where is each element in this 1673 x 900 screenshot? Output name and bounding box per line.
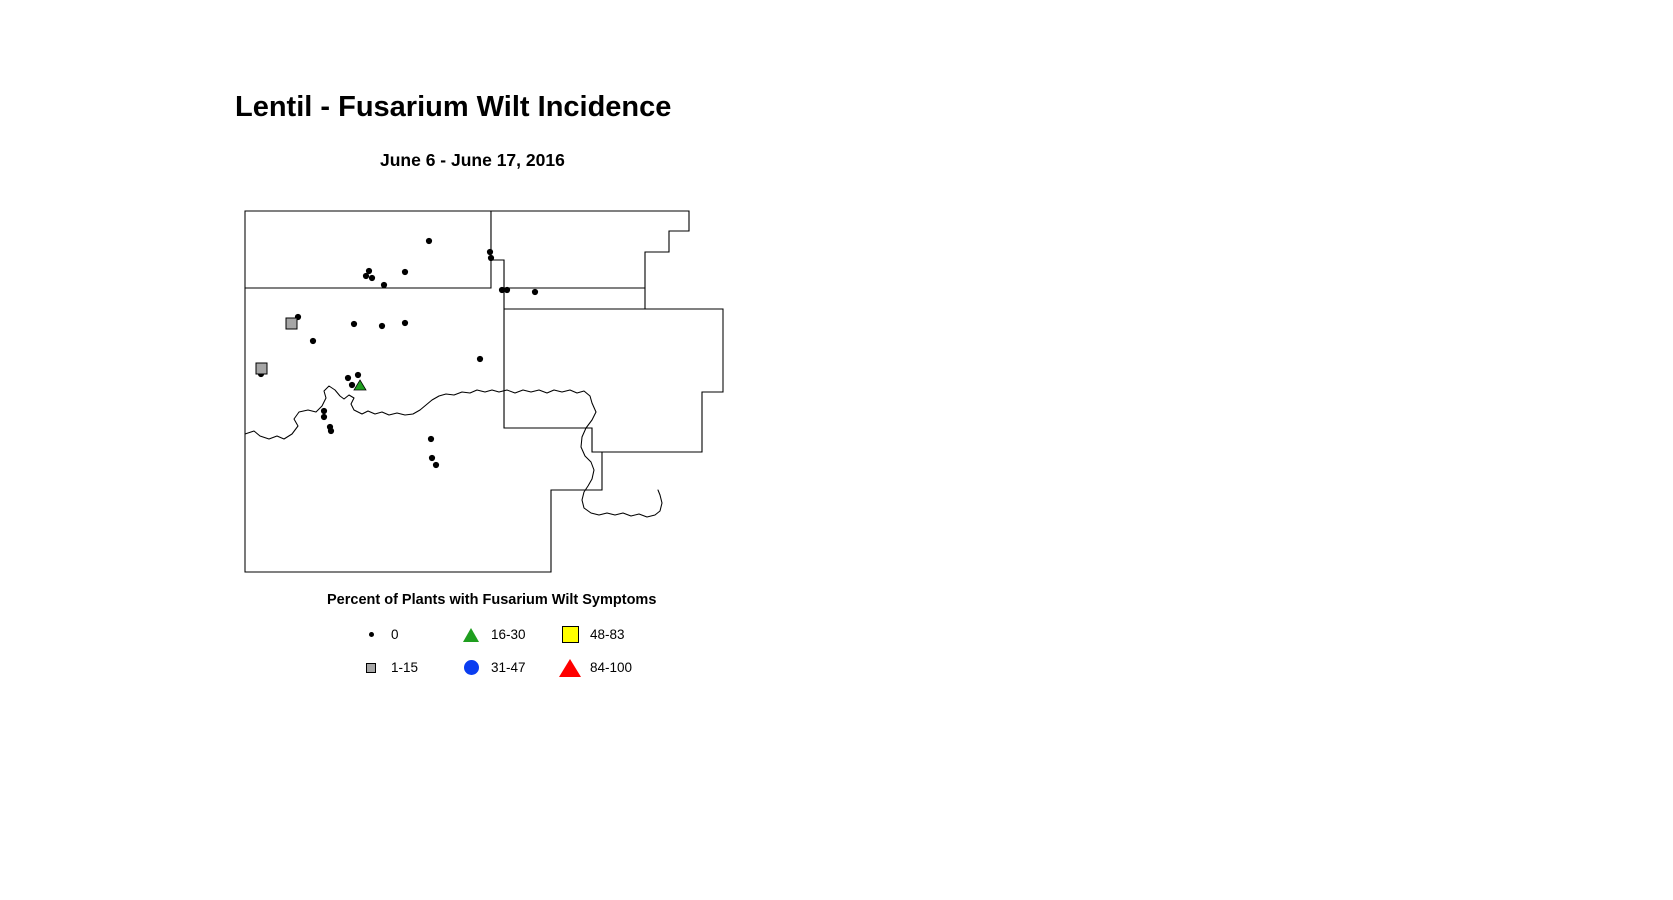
legend-label: 16-30 <box>491 627 526 642</box>
map-marker-dot <box>532 289 538 295</box>
legend-label: 48-83 <box>590 627 625 642</box>
map-marker-dot <box>487 249 493 255</box>
map-marker-dot <box>345 375 351 381</box>
legend-row: 1-15 31-47 84-100 <box>236 651 796 684</box>
page-subtitle: June 6 - June 17, 2016 <box>380 150 565 171</box>
figure-root: Lentil - Fusarium Wilt Incidence June 6 … <box>0 0 1673 900</box>
legend-swatch-black-dot-icon <box>360 624 382 646</box>
legend-entry-1-15: 1-15 <box>360 651 418 684</box>
legend-entry-0: 0 <box>360 618 399 651</box>
legend-label: 0 <box>391 627 399 642</box>
map-marker-dot <box>428 436 434 442</box>
county-outline-east <box>504 288 723 452</box>
map-marker-dot <box>328 428 334 434</box>
page-title: Lentil - Fusarium Wilt Incidence <box>235 90 1135 124</box>
map-marker-dot <box>321 414 327 420</box>
map-marker-gray-square <box>256 363 267 374</box>
legend-grid: 0 16-30 48-83 <box>236 618 796 684</box>
map-marker-dot <box>349 382 355 388</box>
legend-title: Percent of Plants with Fusarium Wilt Sym… <box>327 592 656 608</box>
legend-swatch-yellow-square-icon <box>559 624 581 646</box>
legend-entry-48-83: 48-83 <box>559 618 625 651</box>
legend-swatch-blue-circle-icon <box>460 657 482 679</box>
map-marker-dot <box>433 462 439 468</box>
map-marker-dot <box>351 321 357 327</box>
map-marker-dot <box>369 275 375 281</box>
legend-swatch-gray-square-icon <box>360 657 382 679</box>
legend-row: 0 16-30 48-83 <box>236 618 796 651</box>
legend-swatch-red-triangle-icon <box>559 657 581 679</box>
map-marker-dot <box>429 455 435 461</box>
map-marker-dot <box>381 282 387 288</box>
map-marker-dot <box>402 269 408 275</box>
map-marker-dot <box>402 320 408 326</box>
legend: Percent of Plants with Fusarium Wilt Sym… <box>236 590 796 685</box>
map-marker-dot <box>477 356 483 362</box>
map-svg <box>236 200 756 600</box>
map-marker-dot <box>504 287 510 293</box>
map-container <box>236 200 756 600</box>
legend-entry-31-47: 31-47 <box>460 651 526 684</box>
map-marker-dot <box>426 238 432 244</box>
map-marker-dot <box>366 268 372 274</box>
map-marker-dot <box>355 372 361 378</box>
map-marker-dot <box>321 408 327 414</box>
title-block: Lentil - Fusarium Wilt Incidence June 6 … <box>235 90 1135 124</box>
legend-label: 1-15 <box>391 660 418 675</box>
legend-label: 84-100 <box>590 660 632 675</box>
legend-label: 31-47 <box>491 660 526 675</box>
county-outline-northeast <box>491 211 689 288</box>
legend-entry-16-30: 16-30 <box>460 618 526 651</box>
map-marker-dot <box>379 323 385 329</box>
legend-swatch-green-triangle-icon <box>460 624 482 646</box>
map-marker-dot <box>488 255 494 261</box>
map-marker-dot <box>310 338 316 344</box>
legend-entry-84-100: 84-100 <box>559 651 632 684</box>
map-marker-gray-square <box>286 318 297 329</box>
